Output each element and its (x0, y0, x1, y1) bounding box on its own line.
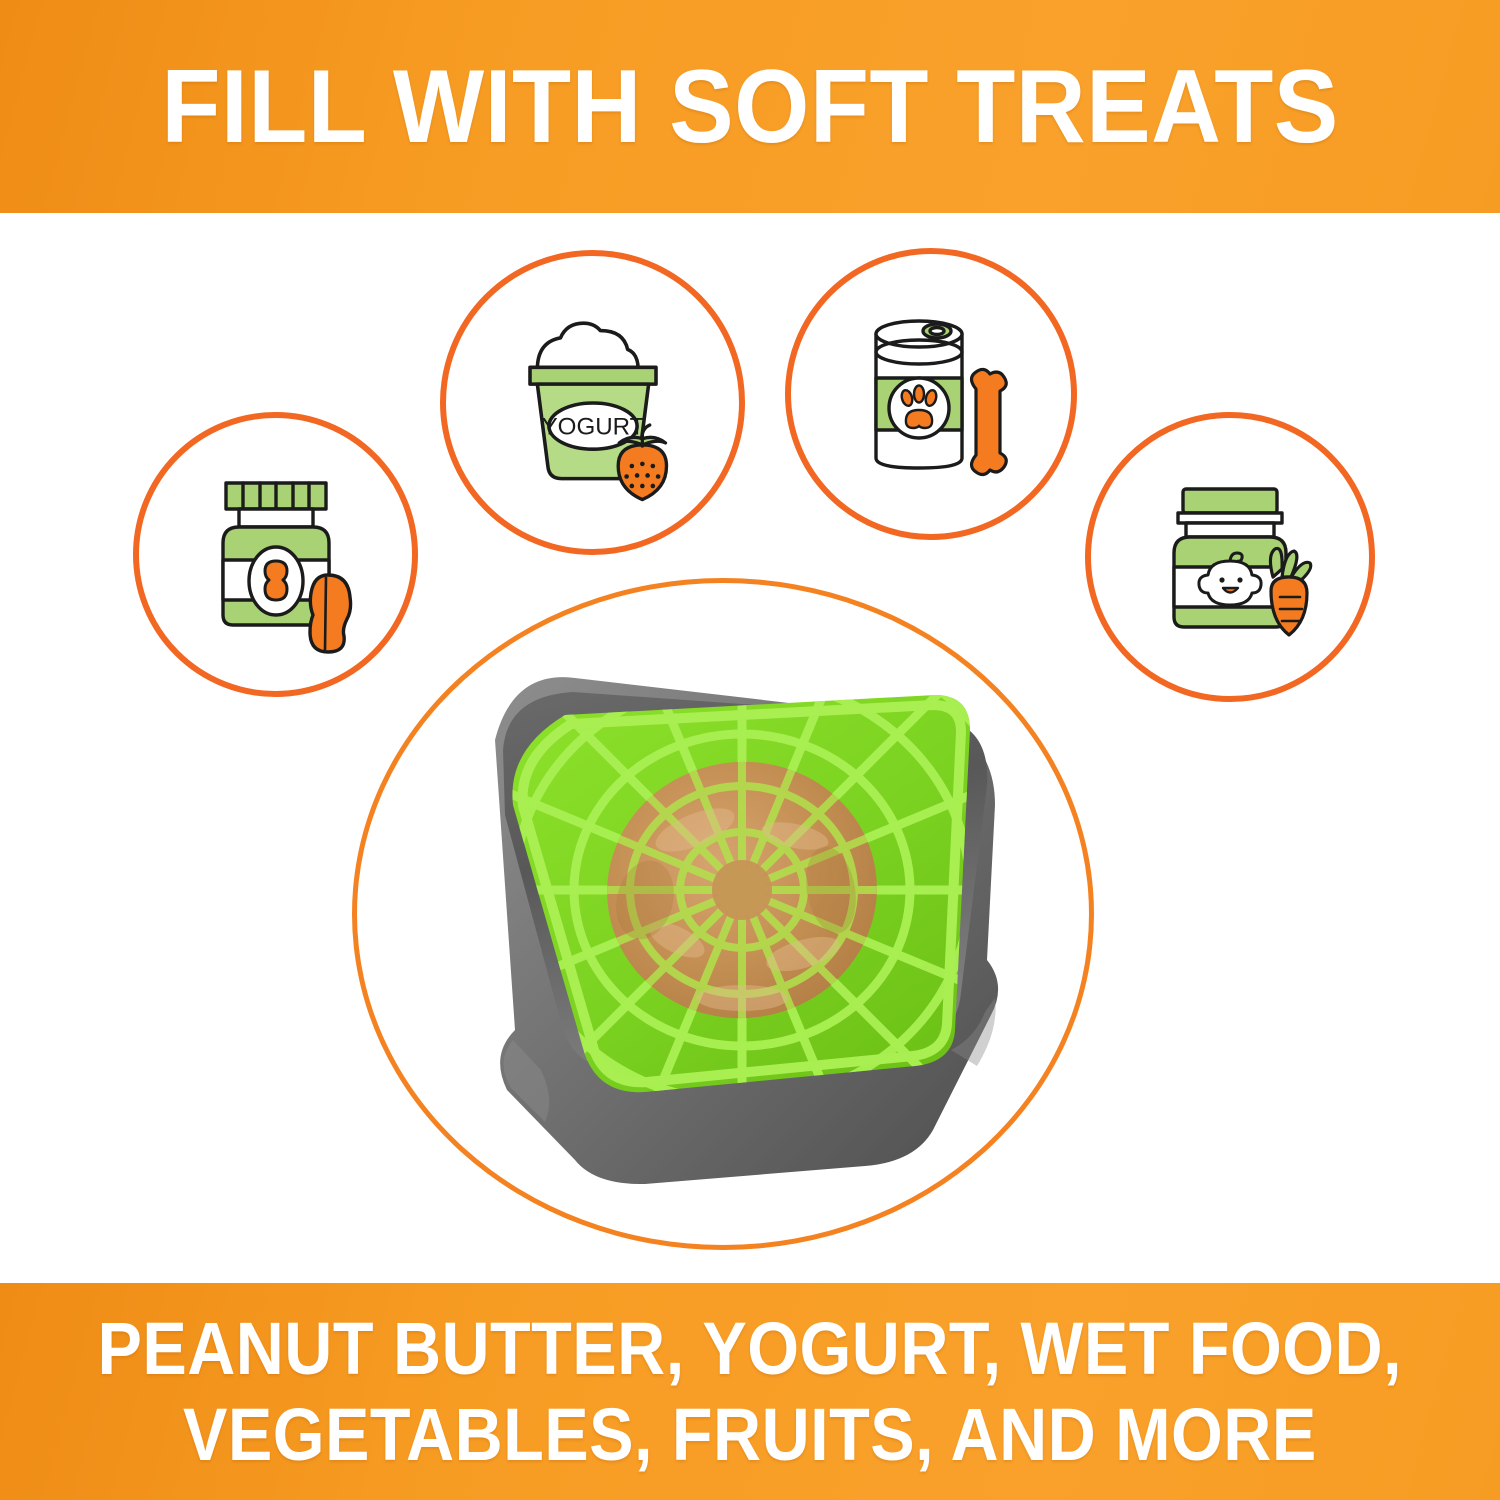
promo-image-root: FILL WITH SOFT TREATS Peanut butter jar … (0, 0, 1500, 1500)
bottom-banner: PEANUT BUTTER, YOGURT, WET FOOD, VEGETAB… (0, 1283, 1500, 1500)
icon-circle-baby-food: Baby food jar with carrot (1085, 412, 1375, 702)
yogurt-tub-icon: YOGURT (488, 298, 698, 508)
baby-food-jar-icon (1130, 457, 1330, 657)
subtitle-line-1: PEANUT BUTTER, YOGURT, WET FOOD, (98, 1312, 1402, 1386)
page-title: FILL WITH SOFT TREATS (161, 55, 1338, 159)
icon-circle-yogurt: Yogurt tub with strawberry YOGURT (440, 250, 745, 555)
subtitle-line-2: VEGETABLES, FRUITS, AND MORE (183, 1398, 1317, 1472)
peanut-butter-jar-icon (176, 455, 376, 655)
wet-food-can-icon (831, 294, 1031, 494)
lick-mat-in-bowl-illustration (395, 600, 1065, 1200)
top-banner: FILL WITH SOFT TREATS (0, 0, 1500, 213)
icon-circle-wet-food: Wet food can with paw print and bone (785, 248, 1077, 540)
product-photo: Green spiderweb silicone lick mat inside… (395, 600, 1065, 1200)
icon-circle-peanut-butter: Peanut butter jar with peanut (133, 412, 418, 697)
